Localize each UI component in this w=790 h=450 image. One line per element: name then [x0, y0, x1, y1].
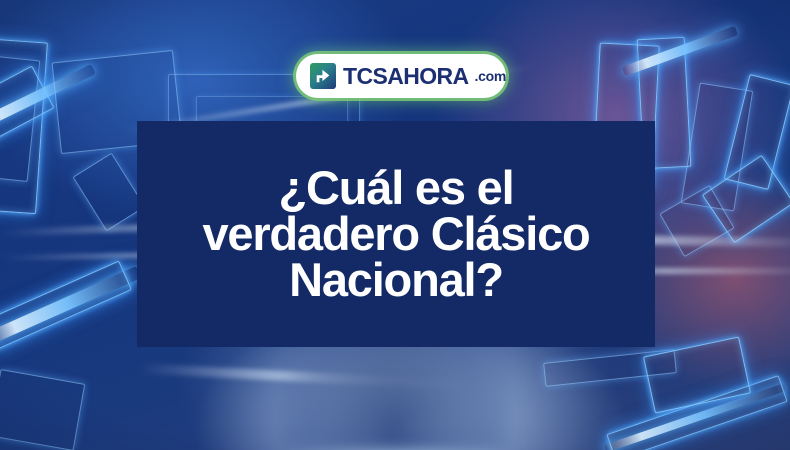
- headline-line: Nacional?: [202, 257, 589, 303]
- arrow-right-icon: [310, 63, 336, 89]
- page-title: ¿Cuál es el verdadero Clásico Nacional?: [192, 165, 599, 303]
- headline-panel: ¿Cuál es el verdadero Clásico Nacional?: [137, 121, 655, 347]
- tcsahora-logo-badge[interactable]: TCSAHORA .com: [296, 54, 506, 98]
- thumbnail-graphic: TCSAHORA .com ¿Cuál es el verdadero Clás…: [0, 0, 790, 450]
- logo-tld: .com: [475, 69, 506, 83]
- logo-wordmark: TCSAHORA: [343, 65, 469, 88]
- headline-line: ¿Cuál es el: [202, 165, 589, 211]
- headline-line: verdadero Clásico: [202, 211, 589, 257]
